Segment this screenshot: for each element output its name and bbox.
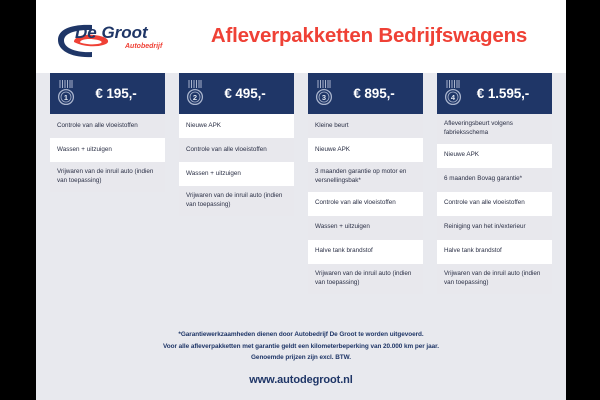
feature-item: Controle van alle vloeistoffen xyxy=(437,192,552,216)
screenshot-root: De Groot Autobedrijf Afleverpakketten Be… xyxy=(0,0,600,400)
feature-item: Wassen + uitzuigen xyxy=(308,216,423,240)
package-price-1: € 195,- xyxy=(77,86,159,101)
package-features-3: Kleine beurt Nieuwe APK 3 maanden garant… xyxy=(308,114,423,294)
feature-item: Nieuwe APK xyxy=(179,114,294,138)
feature-item: Kleine beurt xyxy=(308,114,423,138)
footer-note-1: *Garantiewerkzaamheden dienen door Autob… xyxy=(36,329,566,340)
flyer-page: De Groot Autobedrijf Afleverpakketten Be… xyxy=(36,0,566,400)
medal-rank-icon: 2 xyxy=(184,79,206,109)
de-groot-logo[interactable]: De Groot Autobedrijf xyxy=(50,20,178,62)
feature-item: Vrijwaren van de inruil auto (indien van… xyxy=(437,264,552,294)
page-header: De Groot Autobedrijf Afleverpakketten Be… xyxy=(36,0,566,73)
logo-tagline: Autobedrijf xyxy=(124,43,163,50)
feature-item: 3 maanden garantie op motor en versnelli… xyxy=(308,162,423,192)
medal-rank-icon: 1 xyxy=(55,79,77,109)
package-features-4: Afleveringsbeurt volgens fabrieksschema … xyxy=(437,114,552,294)
website-link[interactable]: www.autodegroot.nl xyxy=(36,374,566,386)
feature-item: Halve tank brandstof xyxy=(308,240,423,264)
package-price-3: € 895,- xyxy=(335,86,417,101)
feature-item: 6 maanden Bovag garantie* xyxy=(437,168,552,192)
package-header-2: 2 € 495,- xyxy=(179,73,294,114)
package-card-2[interactable]: 2 € 495,- Nieuwe APK Controle van alle v… xyxy=(179,73,294,313)
package-header-3: 3 € 895,- xyxy=(308,73,423,114)
feature-item: Controle van alle vloeistoffen xyxy=(308,192,423,216)
page-title: Afleverpakketten Bedrijfswagens xyxy=(184,24,554,48)
footer-note-2: Voor alle afleverpakketten met garantie … xyxy=(36,341,566,352)
medal-number: 3 xyxy=(322,93,326,102)
page-footer: *Garantiewerkzaamheden dienen door Autob… xyxy=(36,329,566,400)
package-card-1[interactable]: 1 € 195,- Controle van alle vloeistoffen… xyxy=(50,73,165,313)
feature-item: Halve tank brandstof xyxy=(437,240,552,264)
medal-number: 1 xyxy=(64,93,68,102)
feature-item: Afleveringsbeurt volgens fabrieksschema xyxy=(437,114,552,144)
medal-rank-icon: 4 xyxy=(442,79,464,109)
package-price-4: € 1.595,- xyxy=(464,86,546,101)
medal-number: 2 xyxy=(193,93,197,102)
footer-note-3: Genoemde prijzen zijn excl. BTW. xyxy=(36,352,566,363)
package-card-4[interactable]: 4 € 1.595,- Afleveringsbeurt volgens fab… xyxy=(437,73,552,313)
medal-rank-icon: 3 xyxy=(313,79,335,109)
feature-item: Wassen + uitzuigen xyxy=(179,162,294,186)
feature-item: Nieuwe APK xyxy=(308,138,423,162)
package-card-3[interactable]: 3 € 895,- Kleine beurt Nieuwe APK 3 maan… xyxy=(308,73,423,313)
feature-item: Vrijwaren van de inruil auto (indien van… xyxy=(50,162,165,192)
feature-item: Vrijwaren van de inruil auto (indien van… xyxy=(179,186,294,216)
feature-item: Reiniging van het in/exterieur xyxy=(437,216,552,240)
feature-item: Wassen + uitzuigen xyxy=(50,138,165,162)
package-header-4: 4 € 1.595,- xyxy=(437,73,552,114)
logo-wordmark: De Groot xyxy=(75,23,149,42)
medal-number: 4 xyxy=(451,93,456,102)
feature-item: Controle van alle vloeistoffen xyxy=(50,114,165,138)
package-columns: 1 € 195,- Controle van alle vloeistoffen… xyxy=(36,73,566,313)
feature-item: Vrijwaren van de inruil auto (indien van… xyxy=(308,264,423,294)
feature-item: Controle van alle vloeistoffen xyxy=(179,138,294,162)
package-features-1: Controle van alle vloeistoffen Wassen + … xyxy=(50,114,165,192)
feature-item: Nieuwe APK xyxy=(437,144,552,168)
package-price-2: € 495,- xyxy=(206,86,288,101)
package-header-1: 1 € 195,- xyxy=(50,73,165,114)
package-features-2: Nieuwe APK Controle van alle vloeistoffe… xyxy=(179,114,294,216)
